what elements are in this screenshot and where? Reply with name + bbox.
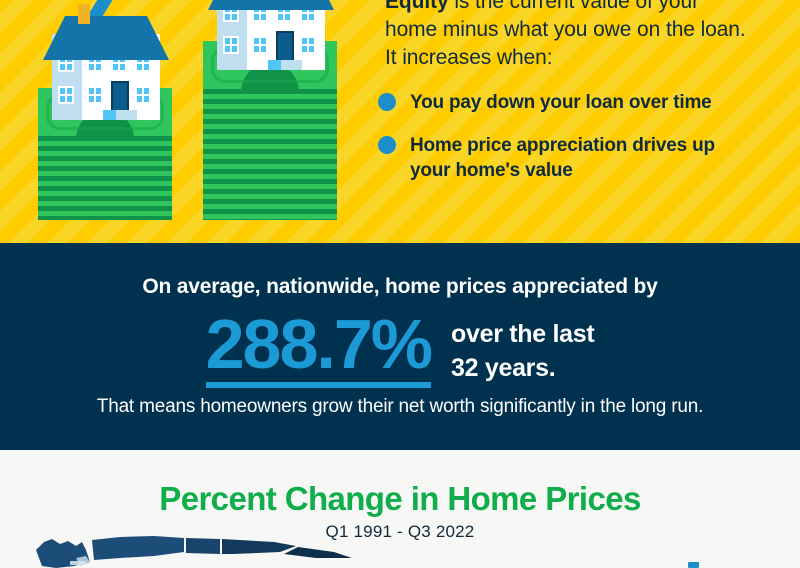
money-bill-lines (38, 136, 172, 220)
infographic-page: Equity is the current value of your home… (0, 0, 800, 568)
bullet-dot-icon (378, 93, 396, 111)
stat-kicker: On average, nationwide, home prices appr… (0, 275, 800, 299)
stat-big-wrapper: 288.7% (206, 309, 431, 388)
stat-tail: over the last 32 years. (451, 309, 594, 385)
equity-paragraph: Equity is the current value of your home… (385, 0, 785, 72)
equity-bullet-list: You pay down your loan over time Home pr… (378, 90, 788, 201)
map-legend-swatch (688, 562, 699, 568)
us-map-svg (34, 536, 364, 568)
map-state-group-north-a (92, 536, 184, 560)
map-state-group-north-c (222, 539, 296, 554)
stat-big-number: 288.7% (206, 309, 431, 379)
roof-icon (43, 16, 168, 60)
chart-title: Percent Change in Home Prices (0, 480, 800, 518)
equity-paragraph-line-1: Equity is the current value of your (385, 0, 785, 16)
equity-paragraph-line-3: It increases when: (385, 44, 785, 72)
map-state-group-north-d (284, 547, 352, 558)
front-step-shadow (103, 110, 116, 120)
window-icon (252, 36, 268, 54)
stat-underline (206, 382, 431, 388)
house-illustration-right (217, 0, 325, 70)
map-state-group-north-b (186, 538, 220, 554)
house-body (217, 0, 325, 70)
stat-tail-line-2: 32 years. (451, 351, 594, 385)
equity-paragraph-line-2: home minus what you owe on the loan. (385, 16, 785, 44)
stat-row: 288.7% over the last 32 years. (0, 309, 800, 388)
window-icon (135, 86, 151, 104)
bullet-dot-icon (378, 136, 396, 154)
roof-icon (208, 0, 333, 10)
stat-tail-line-1: over the last (451, 317, 594, 351)
us-map-choropleth (34, 536, 364, 568)
window-icon (223, 36, 239, 54)
money-bill-lines (203, 89, 337, 220)
appreciation-stat-section: On average, nationwide, home prices appr… (0, 243, 800, 450)
front-step-shadow (268, 60, 281, 70)
bullet-text: Home price appreciation drives up your h… (410, 133, 728, 183)
equity-paragraph-line-1-rest: is the current value of your (449, 0, 699, 13)
stat-footnote: That means homeowners grow their net wor… (0, 396, 800, 418)
bullet-text: You pay down your loan over time (410, 90, 712, 115)
window-icon (300, 36, 316, 54)
house-illustration-left (52, 14, 160, 120)
equity-lead-word: Equity (385, 0, 449, 13)
equity-explainer-section: Equity is the current value of your home… (0, 0, 800, 243)
list-item: Home price appreciation drives up your h… (378, 133, 788, 183)
window-icon (58, 86, 74, 104)
chimney-icon (78, 4, 90, 24)
list-item: You pay down your loan over time (378, 90, 788, 115)
window-icon (87, 86, 103, 104)
map-value-label-blur (70, 561, 86, 565)
